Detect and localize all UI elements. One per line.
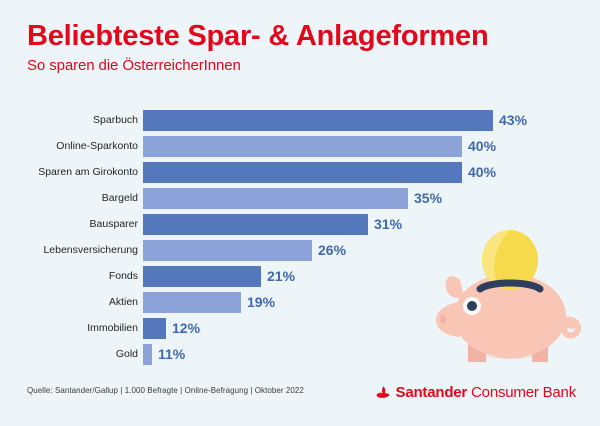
chart-bar-value: 19% [247, 292, 275, 313]
chart-bar [143, 110, 493, 131]
chart-bar-value: 31% [374, 214, 402, 235]
chart-bar-value: 40% [468, 136, 496, 157]
chart-bar-value: 26% [318, 240, 346, 261]
chart-row-label: Sparen am Girokonto [0, 162, 138, 183]
chart-bar-value: 40% [468, 162, 496, 183]
chart-row: Sparen am Girokonto40% [0, 162, 600, 183]
chart-row-label: Online-Sparkonto [0, 136, 138, 157]
chart-bar [143, 240, 312, 261]
header: Beliebteste Spar- & Anlageformen So spar… [27, 21, 572, 74]
logo-sub: Consumer Bank [471, 384, 576, 401]
chart-row-label: Bargeld [0, 188, 138, 209]
logo-brand: Santander [396, 384, 468, 401]
chart-bar [143, 214, 368, 235]
santander-logo: Santander Consumer Bank [375, 382, 576, 402]
chart-bar [143, 292, 241, 313]
infographic-canvas: Beliebteste Spar- & Anlageformen So spar… [0, 0, 600, 426]
chart-row-label: Immobilien [0, 318, 138, 339]
chart-row-label: Aktien [0, 292, 138, 313]
page-subtitle: So sparen die ÖsterreicherInnen [27, 57, 572, 74]
chart-row: Online-Sparkonto40% [0, 136, 600, 157]
chart-bar [143, 162, 462, 183]
santander-flame-icon [375, 384, 392, 401]
chart-row-label: Gold [0, 344, 138, 365]
page-title: Beliebteste Spar- & Anlageformen [27, 21, 572, 52]
chart-row-label: Sparbuch [0, 110, 138, 131]
santander-logo-text: Santander Consumer Bank [396, 384, 576, 401]
chart-bar [143, 136, 462, 157]
chart-bar [143, 344, 152, 365]
chart-bar-value: 35% [414, 188, 442, 209]
chart-row-label: Fonds [0, 266, 138, 287]
chart-row: Bargeld35% [0, 188, 600, 209]
chart-bar [143, 266, 261, 287]
chart-bar [143, 188, 408, 209]
chart-row-label: Lebensversicherung [0, 240, 138, 261]
chart-bar [143, 318, 166, 339]
piggy-bank-illustration [432, 228, 594, 373]
chart-bar-value: 21% [267, 266, 295, 287]
source-note: Quelle: Santander/Gallup | 1.000 Befragt… [27, 386, 304, 395]
chart-bar-value: 43% [499, 110, 527, 131]
chart-row-label: Bausparer [0, 214, 138, 235]
chart-bar-value: 11% [158, 344, 185, 365]
chart-bar-value: 12% [172, 318, 200, 339]
chart-row: Sparbuch43% [0, 110, 600, 131]
